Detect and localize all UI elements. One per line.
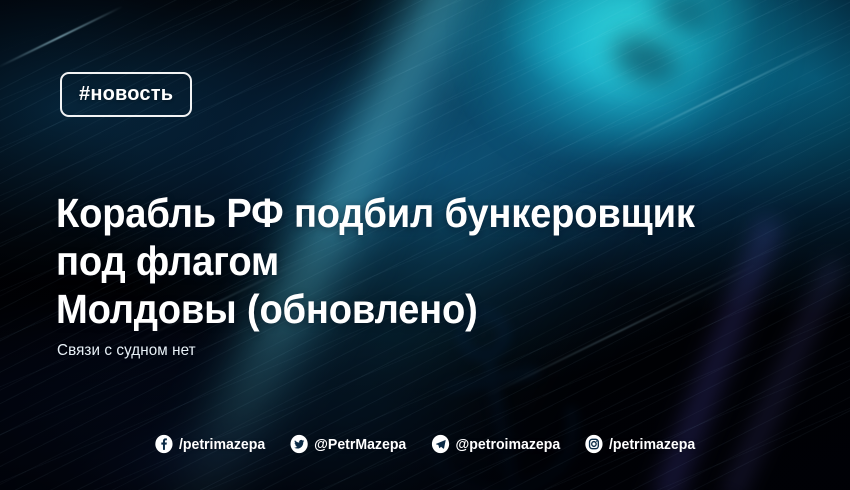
- headline-line-1: Корабль РФ подбил бункеровщик под флагом: [56, 190, 735, 286]
- social-link-instagram[interactable]: /petrimazepa: [585, 434, 696, 454]
- social-handle: /petrimazepa: [179, 436, 265, 453]
- social-handle: /petrimazepa: [609, 436, 695, 453]
- twitter-icon: [290, 434, 309, 454]
- social-handle: @petroimazepa: [455, 436, 560, 453]
- facebook-icon: [155, 434, 174, 454]
- instagram-icon: [585, 434, 604, 454]
- page-title: Корабль РФ подбил бункеровщик под флагом…: [56, 190, 735, 334]
- social-handle: @PetrMazepa: [314, 436, 406, 453]
- headline-line-2: Молдовы (обновлено): [56, 286, 735, 334]
- news-card: #новость Корабль РФ подбил бункеровщик п…: [0, 0, 850, 490]
- social-link-telegram[interactable]: @petroimazepa: [431, 434, 560, 454]
- social-link-twitter[interactable]: @PetrMazepa: [290, 434, 407, 454]
- news-tag-badge[interactable]: #новость: [60, 72, 192, 117]
- social-links-bar: /petrimazepa @PetrMazepa: [0, 434, 850, 454]
- news-tag-label: #новость: [79, 83, 173, 106]
- social-link-facebook[interactable]: /petrimazepa: [155, 434, 266, 454]
- subtitle: Связи с судном нет: [57, 342, 196, 360]
- telegram-icon: [431, 434, 450, 454]
